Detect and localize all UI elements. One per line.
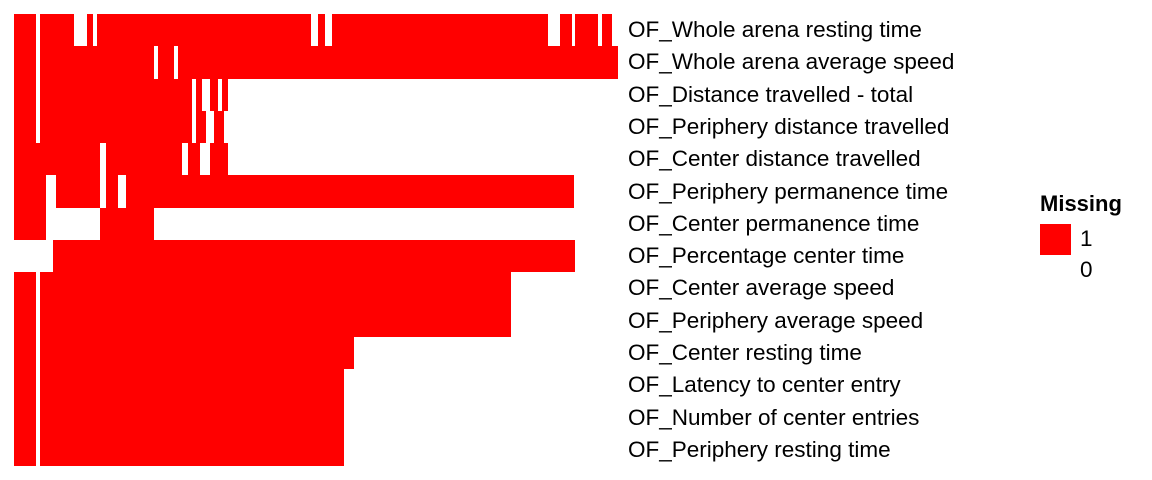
missing-data-heatmap-figure: OF_Whole arena resting timeOF_Whole aren… bbox=[0, 0, 1152, 480]
heatmap-row-label: OF_Percentage center time bbox=[628, 245, 904, 268]
heatmap-cell-missing bbox=[188, 143, 200, 175]
legend: Missing 10 bbox=[1040, 193, 1152, 286]
heatmap-row bbox=[14, 272, 618, 304]
legend-title: Missing bbox=[1040, 193, 1152, 215]
legend-key-label: 0 bbox=[1080, 259, 1093, 282]
heatmap-cell-missing bbox=[40, 14, 74, 46]
heatmap-cell-missing bbox=[126, 175, 574, 207]
heatmap-row bbox=[14, 434, 618, 466]
heatmap-row bbox=[14, 175, 618, 207]
heatmap-row-label: OF_Latency to center entry bbox=[628, 374, 901, 397]
heatmap-row-label-axis: OF_Whole arena resting timeOF_Whole aren… bbox=[628, 14, 1028, 466]
heatmap-row-label: OF_Whole arena average speed bbox=[628, 51, 954, 74]
heatmap-cell-missing bbox=[40, 46, 154, 78]
heatmap-row-label: OF_Center distance travelled bbox=[628, 148, 921, 171]
heatmap-cell-missing bbox=[106, 175, 118, 207]
heatmap-cell-present bbox=[74, 14, 87, 46]
heatmap-cell-missing bbox=[602, 14, 612, 46]
heatmap-cell-missing bbox=[210, 79, 218, 111]
heatmap-cell-missing bbox=[14, 208, 46, 240]
heatmap-cell-missing bbox=[14, 14, 36, 46]
heatmap-cell-present bbox=[344, 369, 618, 401]
heatmap-cell-missing bbox=[14, 369, 36, 401]
heatmap-plot-panel bbox=[14, 14, 618, 466]
legend-key-label: 1 bbox=[1080, 228, 1093, 251]
heatmap-row bbox=[14, 14, 618, 46]
heatmap-cell-present bbox=[200, 143, 210, 175]
heatmap-cell-missing bbox=[14, 175, 46, 207]
heatmap-cell-present bbox=[228, 143, 236, 175]
heatmap-cell-missing bbox=[14, 111, 36, 143]
heatmap-cell-present bbox=[548, 14, 560, 46]
heatmap-row-label: OF_Center average speed bbox=[628, 277, 894, 300]
heatmap-cell-missing bbox=[214, 111, 224, 143]
heatmap-cell-missing bbox=[14, 401, 36, 433]
heatmap-cell-missing bbox=[56, 175, 100, 207]
heatmap-cell-missing bbox=[158, 46, 174, 78]
legend-swatch bbox=[1040, 255, 1071, 286]
heatmap-row-label: OF_Center resting time bbox=[628, 342, 862, 365]
heatmap-cell-missing bbox=[40, 272, 511, 304]
heatmap-cell-missing bbox=[210, 143, 228, 175]
heatmap-row bbox=[14, 401, 618, 433]
heatmap-cell-missing bbox=[14, 337, 36, 369]
heatmap-cell-missing bbox=[100, 208, 154, 240]
legend-key: 1 bbox=[1040, 224, 1152, 255]
heatmap-cell-missing bbox=[560, 14, 572, 46]
heatmap-row-label: OF_Periphery permanence time bbox=[628, 181, 948, 204]
heatmap-cell-missing bbox=[196, 111, 206, 143]
heatmap-cell-missing bbox=[14, 305, 36, 337]
heatmap-cell-missing bbox=[14, 434, 36, 466]
heatmap-cell-present bbox=[154, 208, 574, 240]
heatmap-row-label: OF_Whole arena resting time bbox=[628, 19, 922, 42]
heatmap-cell-present bbox=[575, 240, 618, 272]
heatmap-row bbox=[14, 337, 618, 369]
legend-key: 0 bbox=[1040, 255, 1152, 286]
heatmap-cell-present bbox=[344, 401, 618, 433]
heatmap-row bbox=[14, 305, 618, 337]
heatmap-cell-missing bbox=[40, 337, 354, 369]
heatmap-cell-missing bbox=[14, 143, 100, 175]
heatmap-cell-missing bbox=[40, 369, 344, 401]
heatmap-cell-missing bbox=[40, 305, 511, 337]
heatmap-cell-present bbox=[118, 175, 126, 207]
heatmap-cell-missing bbox=[14, 46, 36, 78]
legend-key-list: 10 bbox=[1040, 224, 1152, 286]
heatmap-row bbox=[14, 46, 618, 78]
heatmap-cell-missing bbox=[14, 79, 36, 111]
heatmap-cell-missing bbox=[178, 46, 618, 78]
heatmap-row bbox=[14, 143, 618, 175]
heatmap-row bbox=[14, 240, 618, 272]
heatmap-cell-present bbox=[511, 272, 618, 304]
heatmap-cell-missing bbox=[40, 401, 344, 433]
heatmap-cell-missing bbox=[40, 79, 192, 111]
legend-swatch bbox=[1040, 224, 1071, 255]
heatmap-cell-present bbox=[206, 111, 214, 143]
heatmap-cell-present bbox=[46, 175, 56, 207]
heatmap-row bbox=[14, 208, 618, 240]
heatmap-row-label: OF_Periphery resting time bbox=[628, 439, 891, 462]
heatmap-cell-present bbox=[612, 14, 618, 46]
heatmap-cell-missing bbox=[97, 14, 311, 46]
heatmap-cell-missing bbox=[40, 434, 344, 466]
heatmap-cell-present bbox=[511, 305, 618, 337]
heatmap-row bbox=[14, 369, 618, 401]
heatmap-row-label: OF_Number of center entries bbox=[628, 407, 919, 430]
heatmap-cell-present bbox=[344, 434, 618, 466]
heatmap-row-label: OF_Center permanence time bbox=[628, 213, 919, 236]
heatmap-cell-present bbox=[311, 14, 318, 46]
heatmap-cell-missing bbox=[14, 272, 36, 304]
heatmap-cell-missing bbox=[53, 240, 575, 272]
heatmap-row-label: OF_Distance travelled - total bbox=[628, 84, 913, 107]
heatmap-cell-present bbox=[354, 337, 618, 369]
heatmap-cell-present bbox=[46, 208, 100, 240]
heatmap-cell-missing bbox=[575, 14, 598, 46]
heatmap-cell-present bbox=[224, 111, 230, 143]
heatmap-cell-missing bbox=[318, 14, 325, 46]
heatmap-cell-missing bbox=[332, 14, 548, 46]
heatmap-row-label: OF_Periphery average speed bbox=[628, 310, 923, 333]
heatmap-row bbox=[14, 111, 618, 143]
heatmap-cell-present bbox=[202, 79, 210, 111]
heatmap-cell-missing bbox=[106, 143, 182, 175]
heatmap-cell-present bbox=[325, 14, 332, 46]
heatmap-cell-present bbox=[14, 240, 53, 272]
heatmap-cell-present bbox=[228, 79, 234, 111]
heatmap-row bbox=[14, 79, 618, 111]
heatmap-row-label: OF_Periphery distance travelled bbox=[628, 116, 949, 139]
heatmap-cell-missing bbox=[40, 111, 192, 143]
